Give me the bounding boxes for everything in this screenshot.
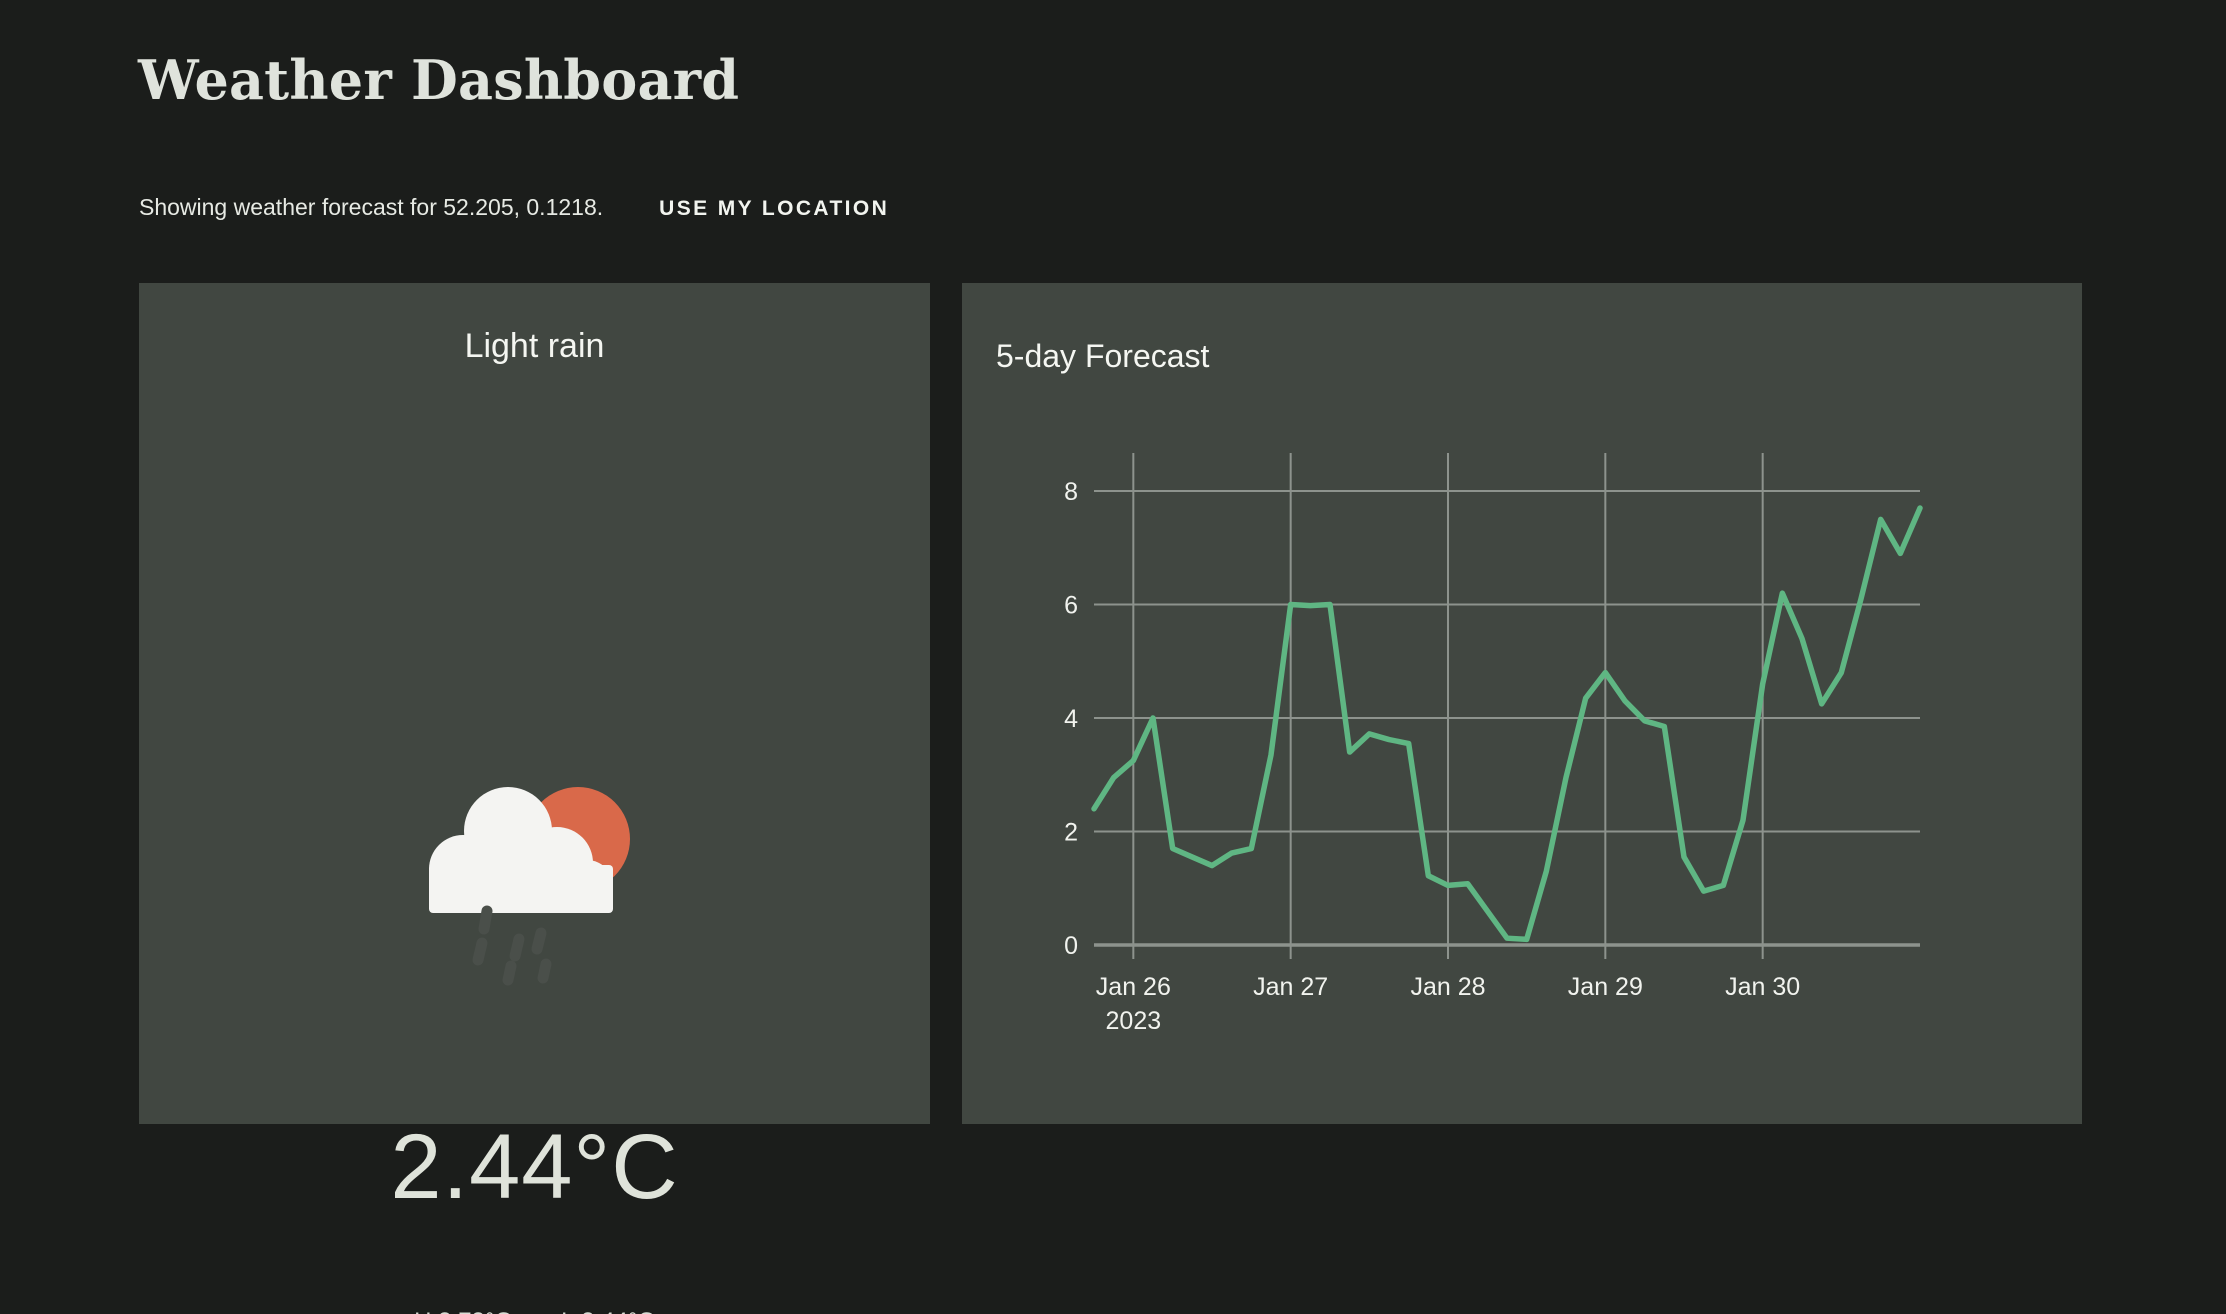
y-axis-tick-label: 8 (1064, 478, 1078, 506)
x-axis-tick-label: Jan 29 (1568, 973, 1643, 1001)
x-axis-tick-label: Jan 30 (1725, 973, 1800, 1001)
page-title: Weather Dashboard (138, 48, 739, 112)
high-temperature: H:3.73°C (414, 1308, 512, 1314)
status-line: Showing weather forecast for 52.205, 0.1… (139, 194, 889, 223)
x-axis-tick-label: Jan 26 (1096, 973, 1171, 1001)
current-condition-label: Light rain (139, 327, 930, 366)
forecast-panel: 5-day Forecast 02468Jan 262023Jan 27Jan … (962, 283, 2082, 1124)
temperature-series-line (1094, 508, 1920, 939)
y-axis-tick-label: 4 (1064, 705, 1078, 733)
y-axis-tick-label: 2 (1064, 819, 1078, 847)
sun-behind-rain-cloud-icon (415, 761, 655, 991)
low-temperature: L:2.44°C (561, 1308, 655, 1314)
x-axis-tick-label: Jan 28 (1410, 973, 1485, 1001)
current-weather-panel: Light rain (139, 283, 930, 1124)
y-axis-tick-label: 0 (1064, 932, 1078, 960)
use-my-location-button[interactable]: USE MY LOCATION (659, 195, 889, 223)
high-low-temperature: H:3.73°C L:2.44°C (139, 1308, 930, 1314)
forecast-line-chart: 02468Jan 262023Jan 27Jan 28Jan 29Jan 30 (962, 283, 2082, 1124)
weather-dashboard-page: Weather Dashboard Showing weather foreca… (0, 0, 2226, 1314)
y-axis-tick-label: 6 (1064, 592, 1078, 620)
forecast-location-text: Showing weather forecast for 52.205, 0.1… (139, 194, 603, 221)
current-temperature: 2.44°C (139, 1121, 930, 1213)
forecast-chart: 02468Jan 262023Jan 27Jan 28Jan 29Jan 30 (962, 283, 2082, 1124)
x-axis-tick-label: Jan 27 (1253, 973, 1328, 1001)
x-axis-year-label: 2023 (1106, 1007, 1162, 1035)
